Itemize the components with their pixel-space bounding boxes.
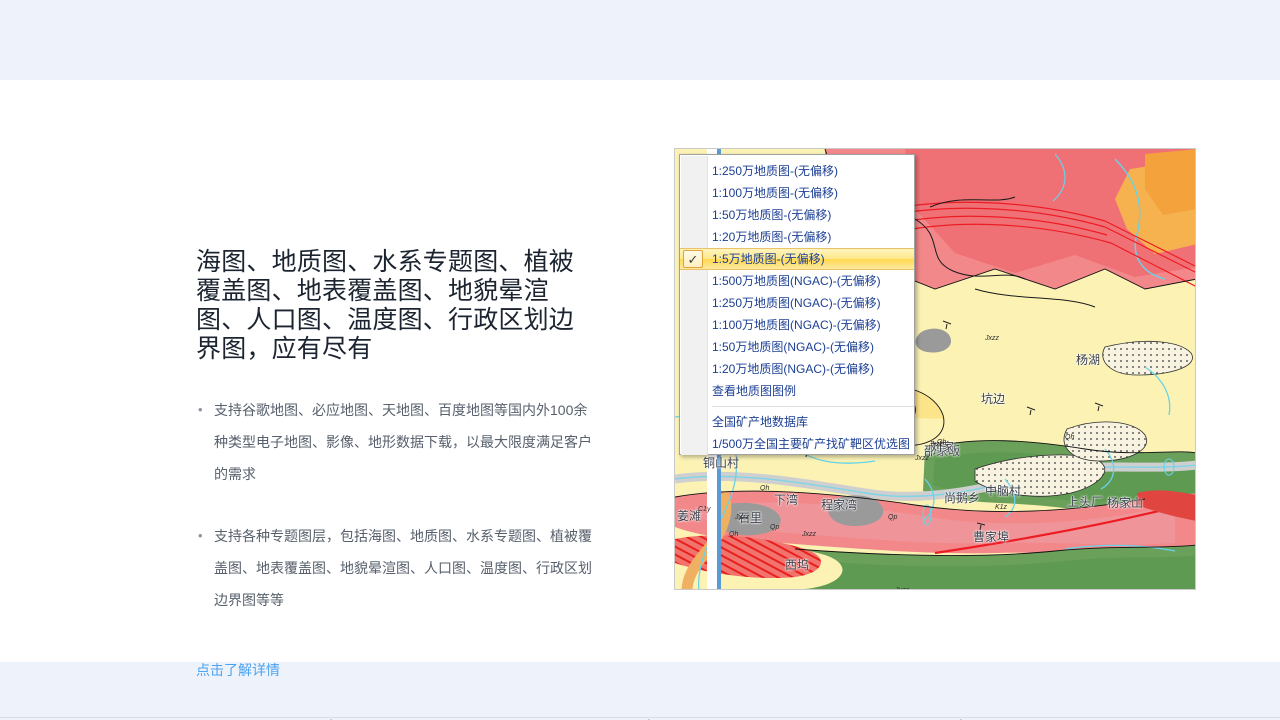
map-unit-code: Jxzz bbox=[735, 514, 749, 521]
map-unit-code: Qh bbox=[1065, 434, 1074, 441]
menu-item-9[interactable]: 1:20万地质图(NGAC)-(无偏移) bbox=[680, 358, 914, 380]
menu-item-2[interactable]: 1:50万地质图-(无偏移) bbox=[680, 204, 914, 226]
map-unit-code: Qh bbox=[937, 439, 946, 446]
menu-item-5[interactable]: 1:500万地质图(NGAC)-(无偏移) bbox=[680, 270, 914, 292]
menu-item-11[interactable]: 全国矿产地数据库 bbox=[680, 411, 914, 433]
list-item: • 支持各种专题图层，包括海图、地质图、水系专题图、植被覆盖图、地表覆盖图、地貌… bbox=[196, 520, 596, 616]
menu-item-label: 查看地质图图例 bbox=[712, 384, 796, 398]
menu-item-label: 1:50万地质图-(无偏移) bbox=[712, 208, 831, 222]
map-place-label: 程家新村 bbox=[814, 589, 862, 590]
map-place-label: 曹家埠 bbox=[973, 528, 1009, 545]
map-place-label: 铜山村 bbox=[703, 454, 739, 471]
map-place-label: 杨家山 bbox=[1107, 494, 1143, 511]
menu-separator bbox=[712, 406, 914, 407]
page-footer-band bbox=[0, 662, 1280, 718]
menu-item-1[interactable]: 1:100万地质图-(无偏移) bbox=[680, 182, 914, 204]
menu-item-4[interactable]: ✓1:5万地质图-(无偏移) bbox=[680, 248, 914, 270]
menu-item-8[interactable]: 1:50万地质图(NGAC)-(无偏移) bbox=[680, 336, 914, 358]
menu-item-label: 1/500万全国主要矿产找矿靶区优选图 bbox=[712, 437, 910, 451]
menu-item-12[interactable]: 1/500万全国主要矿产找矿靶区优选图 bbox=[680, 433, 914, 455]
menu-item-label: 1:100万地质图-(无偏移) bbox=[712, 186, 838, 200]
menu-item-label: 1:250万地质图(NGAC)-(无偏移) bbox=[712, 296, 881, 310]
bullet-marker: • bbox=[198, 520, 203, 552]
menu-item-label: 1:20万地质图(NGAC)-(无偏移) bbox=[712, 362, 874, 376]
menu-item-label: 1:500万地质图(NGAC)-(无偏移) bbox=[712, 274, 881, 288]
page-top-band bbox=[0, 0, 1280, 80]
menu-item-label: 1:20万地质图-(无偏移) bbox=[712, 230, 831, 244]
map-unit-code: C1y bbox=[698, 506, 710, 513]
list-item-text: 支持谷歌地图、必应地图、天地图、百度地图等国内外100余种类型电子地图、影像、地… bbox=[214, 402, 592, 482]
map-place-label: 坑边 bbox=[981, 390, 1005, 407]
learn-more-link[interactable]: 点击了解详情 bbox=[196, 660, 280, 680]
map-unit-code: Jxzz bbox=[802, 531, 816, 538]
map-unit-code: Qh bbox=[760, 485, 769, 492]
list-item-text: 支持各种专题图层，包括海图、地质图、水系专题图、植被覆盖图、地表覆盖图、地貌晕渲… bbox=[214, 528, 592, 608]
checkmark-icon: ✓ bbox=[683, 250, 703, 268]
feature-bullet-list: • 支持谷歌地图、必应地图、天地图、百度地图等国内外100余种类型电子地图、影像… bbox=[196, 394, 596, 616]
map-unit-code: Jxzz bbox=[915, 455, 929, 462]
menu-item-10[interactable]: 查看地质图图例 bbox=[680, 380, 914, 402]
map-place-label: 西坞 bbox=[785, 556, 809, 573]
map-place-label: 中脑村 bbox=[985, 482, 1021, 499]
menu-item-6[interactable]: 1:250万地质图(NGAC)-(无偏移) bbox=[680, 292, 914, 314]
map-place-label: 程家湾 bbox=[821, 496, 857, 513]
menu-item-label: 1:50万地质图(NGAC)-(无偏移) bbox=[712, 340, 874, 354]
map-layer-context-menu[interactable]: 1:250万地质图-(无偏移)1:100万地质图-(无偏移)1:50万地质图-(… bbox=[679, 154, 915, 455]
menu-item-label: 1:100万地质图(NGAC)-(无偏移) bbox=[712, 318, 881, 332]
map-unit-code: Qp bbox=[770, 524, 779, 531]
map-place-label: 尚鹅乡 bbox=[944, 489, 980, 506]
map-place-label: 杨湖 bbox=[1076, 351, 1100, 368]
page-title: 海图、地质图、水系专题图、植被覆盖图、地表覆盖图、地貌晕渲图、人口图、温度图、行… bbox=[196, 248, 592, 364]
feature-text-column: 海图、地质图、水系专题图、植被覆盖图、地表覆盖图、地貌晕渲图、人口图、温度图、行… bbox=[196, 248, 596, 680]
menu-item-list: 1:250万地质图-(无偏移)1:100万地质图-(无偏移)1:50万地质图-(… bbox=[680, 155, 914, 455]
menu-item-label: 1:5万地质图-(无偏移) bbox=[712, 252, 825, 266]
map-unit-code: Jxzz bbox=[985, 335, 999, 342]
map-unit-code: Qh bbox=[729, 531, 738, 538]
menu-item-3[interactable]: 1:20万地质图-(无偏移) bbox=[680, 226, 914, 248]
map-unit-code: Jxzz bbox=[895, 587, 909, 590]
list-item: • 支持谷歌地图、必应地图、天地图、百度地图等国内外100余种类型电子地图、影像… bbox=[196, 394, 596, 490]
bullet-marker: • bbox=[198, 394, 203, 426]
menu-item-label: 1:250万地质图-(无偏移) bbox=[712, 164, 838, 178]
map-place-label: 上头厂 bbox=[1067, 493, 1103, 510]
menu-item-0[interactable]: 1:250万地质图-(无偏移) bbox=[680, 160, 914, 182]
map-unit-code: K1z bbox=[995, 504, 1007, 511]
map-place-label: 下湾 bbox=[774, 491, 798, 508]
menu-item-label: 全国矿产地数据库 bbox=[712, 415, 808, 429]
menu-item-7[interactable]: 1:100万地质图(NGAC)-(无偏移) bbox=[680, 314, 914, 336]
map-unit-code: Qp bbox=[888, 514, 897, 521]
